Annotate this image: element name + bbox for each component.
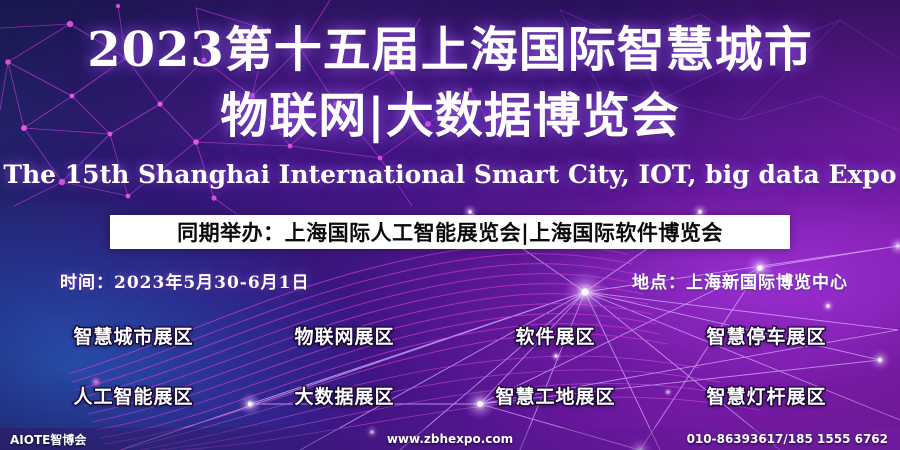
zone-label: 智慧工地展区: [495, 382, 615, 409]
zone-cell: 物联网展区: [239, 322, 450, 349]
zone-cell: 软件展区: [450, 322, 661, 349]
concurrent-events-text: 同期举办：上海国际人工智能展览会|上海国际软件博览会: [177, 217, 723, 247]
event-date: 时间：2023年5月30-6月1日: [60, 268, 310, 293]
zone-label: 智慧城市展区: [73, 322, 193, 349]
banner-title-line-2: 物联网|大数据博览会: [0, 88, 900, 144]
zone-row-2: 人工智能展区 大数据展区 智慧工地展区 智慧灯杆展区: [28, 382, 872, 409]
zone-label: 软件展区: [515, 322, 595, 349]
zone-cell: 智慧停车展区: [661, 322, 872, 349]
zone-cell: 大数据展区: [239, 382, 450, 409]
event-venue: 地点：上海新国际博览中心: [632, 268, 848, 293]
event-info-row: 时间：2023年5月30-6月1日 地点：上海新国际博览中心: [0, 268, 900, 296]
zone-label: 智慧停车展区: [706, 322, 826, 349]
exhibition-zones: 智慧城市展区 物联网展区 软件展区 智慧停车展区 人工智能展区 大数据展区: [0, 322, 900, 434]
zone-row-1: 智慧城市展区 物联网展区 软件展区 智慧停车展区: [28, 322, 872, 349]
zone-cell: 人工智能展区: [28, 382, 239, 409]
banner-title-line-1: 2023第十五届上海国际智慧城市: [0, 22, 900, 78]
banner-footer: AIOTE智博会 www.zbhexpo.com 010-86393617/18…: [0, 428, 900, 450]
banner-subtitle-english: The 15th Shanghai International Smart Ci…: [0, 160, 900, 189]
zone-cell: 智慧工地展区: [450, 382, 661, 409]
zone-label: 大数据展区: [294, 382, 394, 409]
zone-cell: 智慧灯杆展区: [661, 382, 872, 409]
zone-label: 智慧灯杆展区: [706, 382, 826, 409]
zone-cell: 智慧城市展区: [28, 322, 239, 349]
zone-label: 人工智能展区: [73, 382, 193, 409]
expo-banner: 2023第十五届上海国际智慧城市 物联网|大数据博览会 The 15th Sha…: [0, 0, 900, 450]
zone-label: 物联网展区: [294, 322, 394, 349]
concurrent-events-box: 同期举办：上海国际人工智能展览会|上海国际软件博览会: [110, 215, 790, 249]
footer-phone: 010-86393617/185 1555 6762: [687, 432, 888, 446]
banner-content: 2023第十五届上海国际智慧城市 物联网|大数据博览会 The 15th Sha…: [0, 0, 900, 450]
